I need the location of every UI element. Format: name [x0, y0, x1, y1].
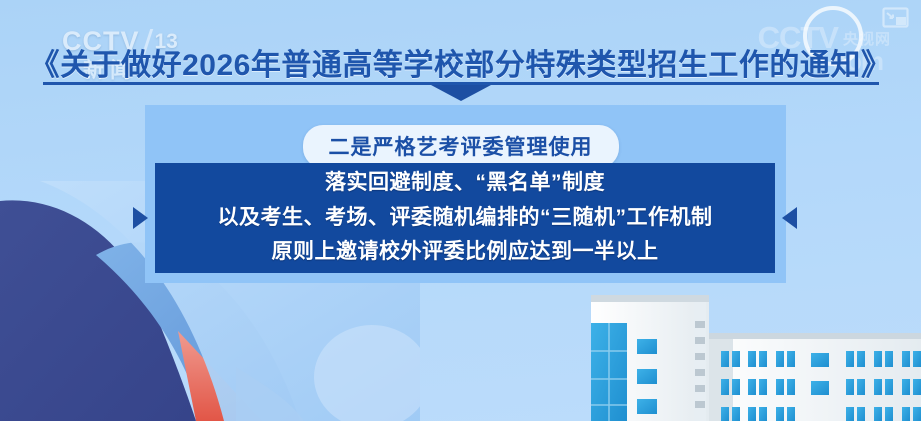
body-line: 原则上邀请校外评委比例应达到一半以上	[272, 236, 659, 269]
page-title: 《关于做好2026年普通高等学校部分特殊类型招生工作的通知》	[30, 40, 892, 84]
body-line: 落实回避制度、“黑名单”制度	[325, 167, 605, 200]
broadcast-screen: CCTV 13 新闻 CCTV 央视网 com 《关于做好2026年普通高等学校…	[0, 0, 921, 421]
body-text-box: 落实回避制度、“黑名单”制度 以及考生、考场、评委随机编排的“三随机”工作机制 …	[155, 163, 775, 273]
body-line: 以及考生、考场、评委随机编排的“三随机”工作机制	[218, 202, 713, 235]
section-pill-label: 二是严格艺考评委管理使用	[303, 125, 619, 168]
triangle-right-icon	[133, 207, 148, 229]
triangle-left-icon	[782, 207, 797, 229]
picture-in-picture-icon[interactable]	[882, 7, 909, 28]
building-illustration	[591, 281, 921, 421]
triangle-down-icon	[431, 85, 491, 101]
school-building-svg	[591, 281, 921, 421]
